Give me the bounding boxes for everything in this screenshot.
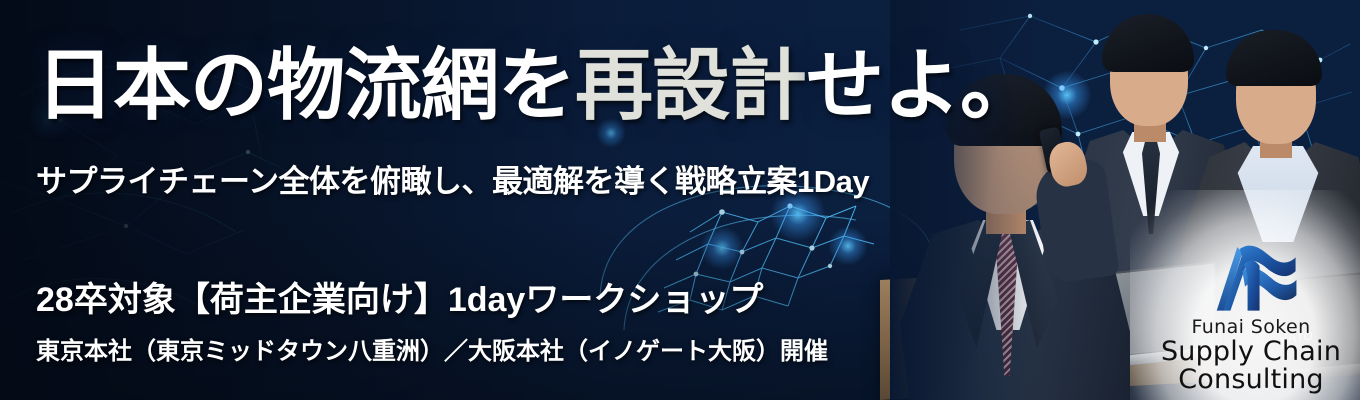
venue-info: 東京本社（東京ミッドタウン八重洲）／大阪本社（イノゲート大阪）開催	[36, 340, 828, 364]
logo-brand-name: Funai Soken	[1191, 316, 1310, 338]
headline-tail: せよ。	[806, 41, 1037, 129]
headline-lead: 日本の物流網を	[36, 41, 575, 129]
headline-highlight: 再設計	[575, 41, 806, 129]
event-title: 28卒対象【荷主企業向け】1dayワークショップ	[36, 283, 763, 317]
headline: 日本の物流網を再設計せよ。	[36, 46, 1037, 124]
funai-soken-wave-mark	[1199, 242, 1303, 314]
seminar-banner: VAIO 日本の物流網を再設計せよ。 サプライチェーン全体を俯瞰し、最適解を導く…	[0, 0, 1360, 400]
subheadline: サプライチェーン全体を俯瞰し、最適解を導く戦略立案1Day	[36, 166, 869, 197]
logo-service-line-1: Supply Chain	[1161, 338, 1341, 366]
funai-soken-logo: Funai Soken Supply Chain Consulting	[1148, 204, 1354, 400]
logo-service-line-2: Consulting	[1161, 366, 1341, 394]
